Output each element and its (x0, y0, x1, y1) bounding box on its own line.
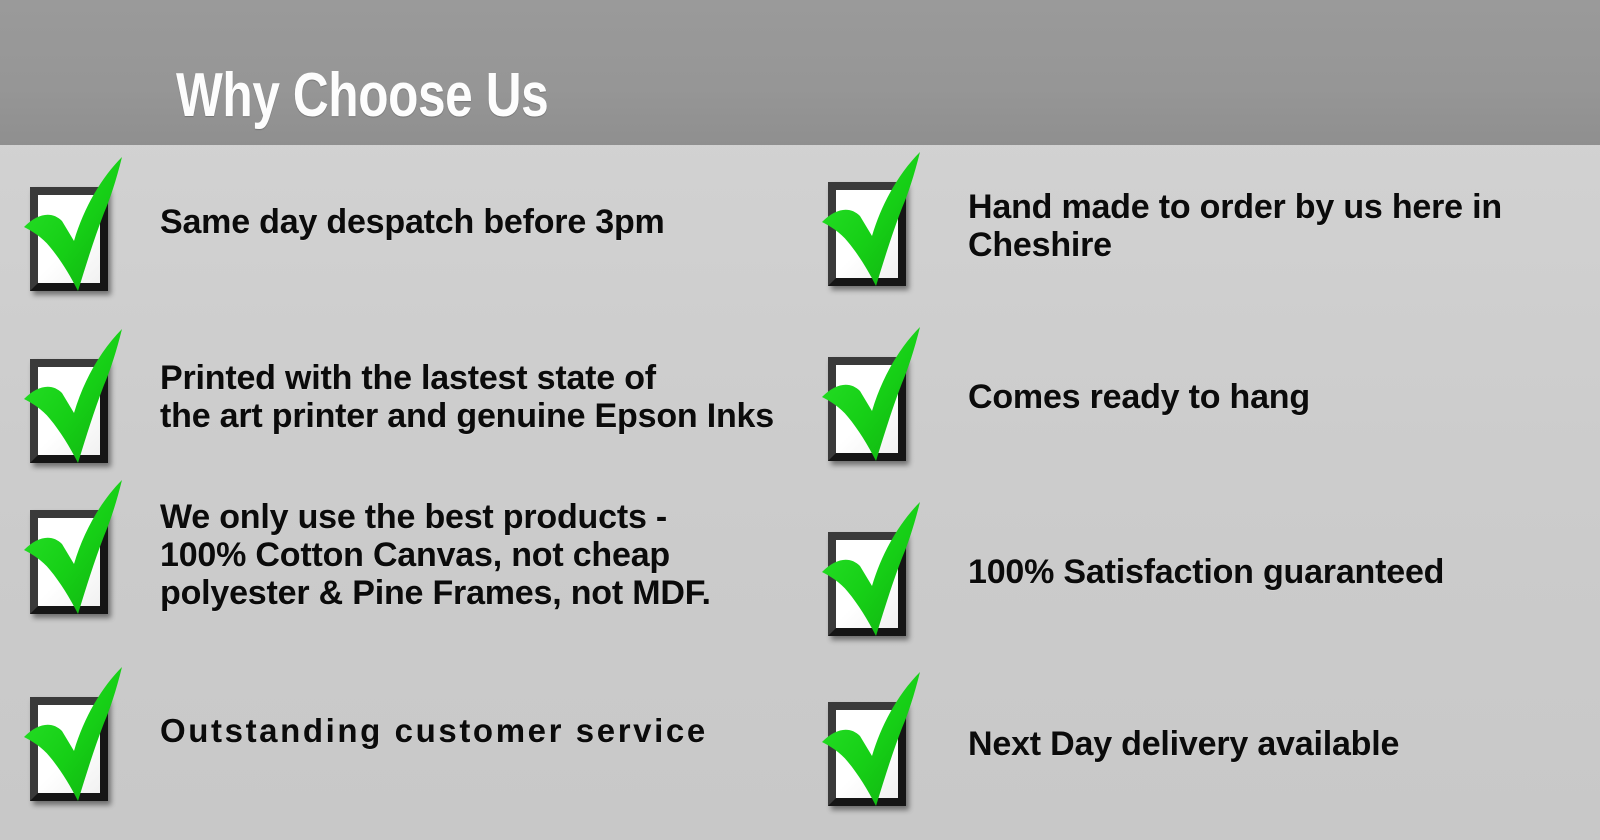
feature-item: Next Day delivery available (816, 670, 1399, 820)
feature-item: Outstanding customer service (18, 665, 708, 815)
green-check-icon (18, 327, 128, 477)
why-choose-us-banner: Why Choose Us Why Choose Us (0, 0, 1600, 840)
feature-item: Comes ready to hang (816, 325, 1310, 475)
feature-item: Hand made to order by us here in Cheshir… (816, 150, 1502, 300)
feature-item: Printed with the lastest state of the ar… (18, 327, 774, 477)
feature-text: Comes ready to hang (968, 378, 1310, 416)
green-check-icon (18, 665, 128, 815)
feature-item: 100% Satisfaction guaranteed (816, 500, 1444, 650)
feature-item: Same day despatch before 3pm (18, 155, 665, 305)
green-check-icon (18, 478, 128, 628)
header-column-left: Why Choose Us (0, 0, 800, 145)
green-check-icon (18, 155, 128, 305)
feature-text: 100% Satisfaction guaranteed (968, 553, 1444, 591)
feature-item: We only use the best products - 100% Cot… (18, 478, 711, 628)
feature-text: Outstanding customer service (160, 713, 708, 750)
green-check-icon (816, 500, 926, 650)
page-title-left: Why Choose Us (176, 65, 548, 127)
green-check-icon (816, 325, 926, 475)
header-column-right: Why Choose Us (800, 0, 1600, 145)
feature-text: We only use the best products - 100% Cot… (160, 498, 711, 612)
feature-columns: Same day despatch before 3pm Printed wit… (0, 145, 1600, 840)
header-bar: Why Choose Us Why Choose Us (0, 0, 1600, 145)
feature-text: Next Day delivery available (968, 725, 1399, 763)
feature-column-right: Hand made to order by us here in Cheshir… (800, 145, 1600, 840)
green-check-icon (816, 670, 926, 820)
feature-text: Hand made to order by us here in Cheshir… (968, 188, 1502, 264)
feature-column-left: Same day despatch before 3pm Printed wit… (0, 145, 800, 840)
green-check-icon (816, 150, 926, 300)
feature-text: Printed with the lastest state of the ar… (160, 359, 774, 435)
feature-text: Same day despatch before 3pm (160, 203, 665, 241)
